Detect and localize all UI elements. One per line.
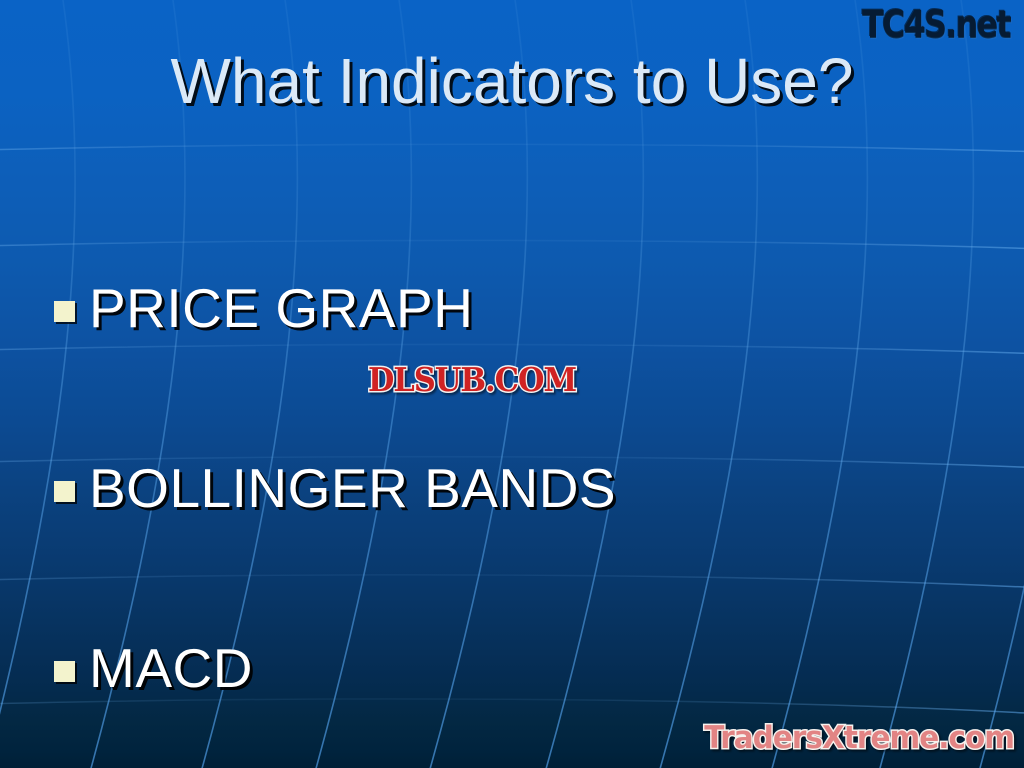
presentation-slide: What Indicators to Use? PRICE GRAPH BOLL… [0,0,1024,768]
slide-title: What Indicators to Use? [0,48,1024,115]
square-bullet-icon [54,661,75,682]
bullet-label-price-graph: PRICE GRAPH [89,281,473,336]
square-bullet-icon [54,301,75,322]
bullet-label-macd: MACD [89,641,253,696]
tradersxtreme-logo-watermark: TradersXtreme.com [704,720,1014,756]
bullet-label-bollinger-bands: BOLLINGER BANDS [89,461,616,516]
bullet-list: PRICE GRAPH BOLLINGER BANDS MACD [54,218,984,758]
list-item: BOLLINGER BANDS [54,398,984,578]
dlsub-watermark: DLSUB.COM [368,360,576,399]
square-bullet-icon [54,481,75,502]
tc4s-logo-watermark: TC4S.net [862,3,1010,46]
